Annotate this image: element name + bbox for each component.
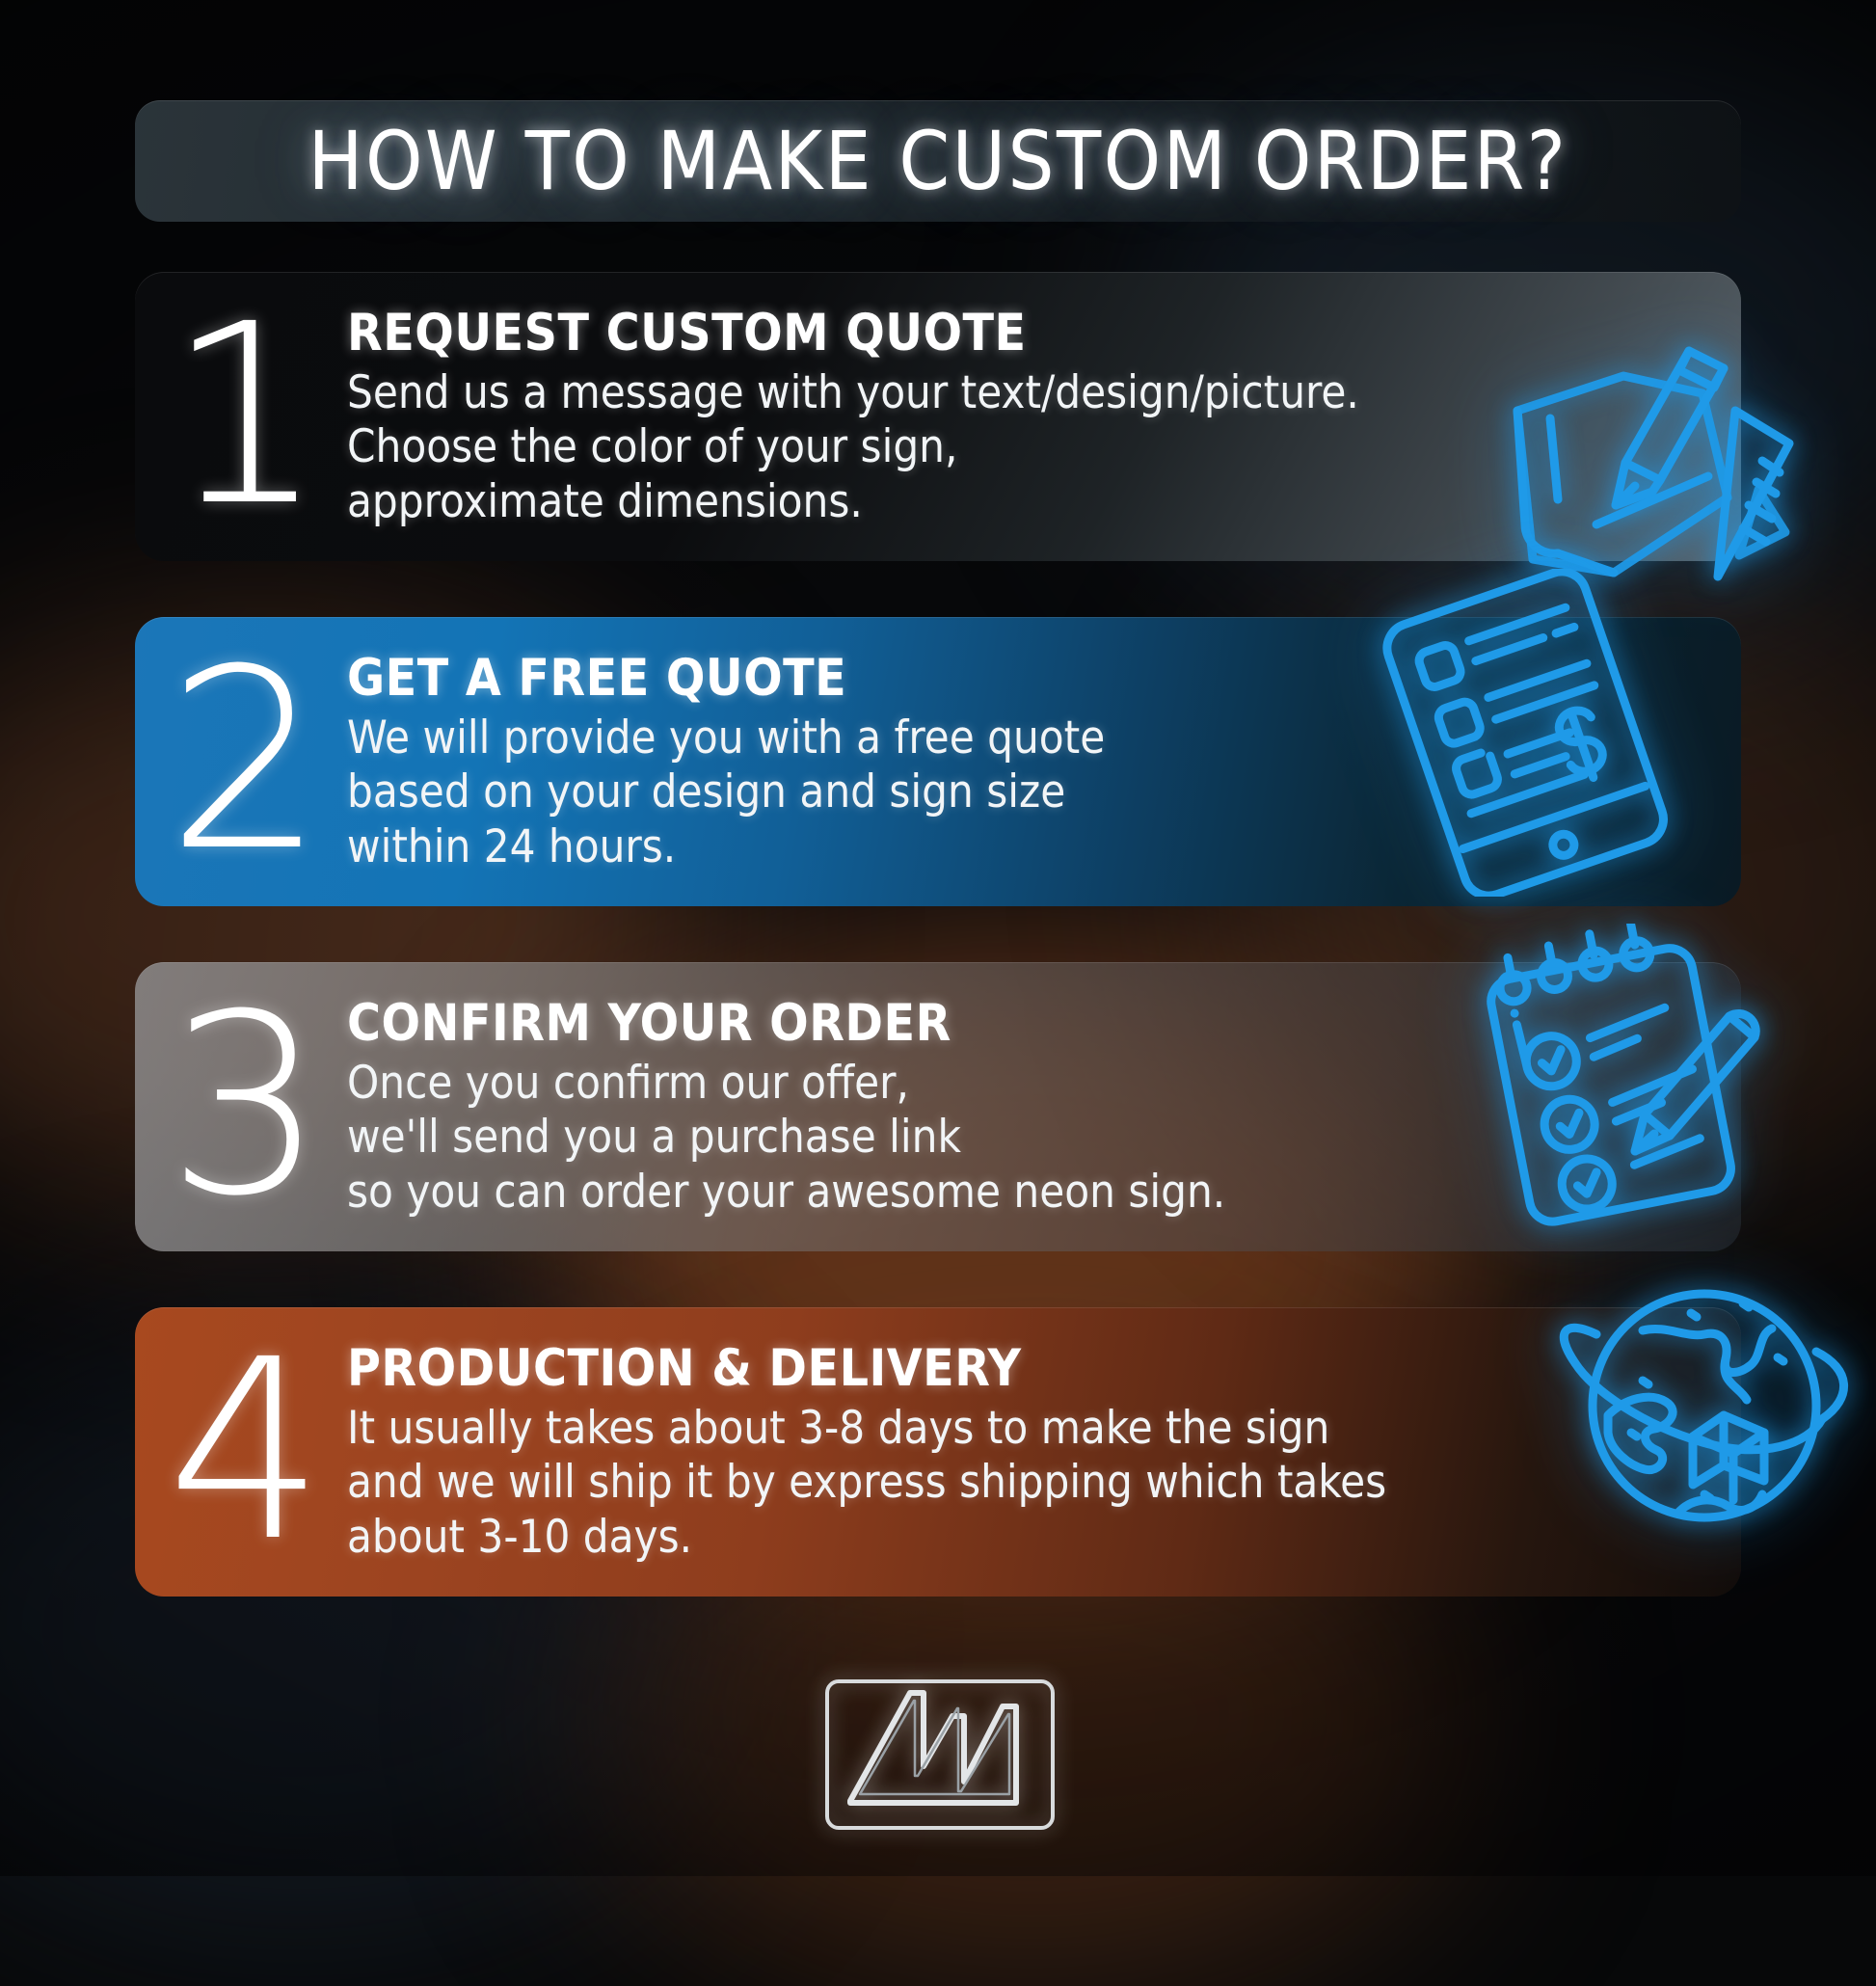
step-card-4[interactable]: 4 PRODUCTION & DELIVERY It usually takes… — [135, 1307, 1741, 1597]
step-title-2: GET A FREE QUOTE — [347, 649, 1702, 708]
page-title: HOW TO MAKE CUSTOM ORDER? — [308, 114, 1568, 208]
step-body-4-line-3: about 3-10 days. — [347, 1511, 1702, 1565]
step-number-1: 1 — [145, 309, 347, 523]
ln-neon-monogram-logo — [817, 1658, 1062, 1851]
step-body-1-line-2: Choose the color of your sign, — [347, 420, 1702, 474]
step-card-3[interactable]: 3 CONFIRM YOUR ORDER Once you confirm ou… — [135, 962, 1741, 1251]
step-number-4: 4 — [145, 1345, 347, 1559]
step-body-4-line-2: and we will ship it by express shipping … — [347, 1456, 1702, 1510]
step-body-3: Once you confirm our offer, we'll send y… — [347, 1057, 1702, 1220]
step-text-2: GET A FREE QUOTE We will provide you wit… — [347, 649, 1741, 874]
step-card-1[interactable]: 1 REQUEST CUSTOM QUOTE Send us a message… — [135, 272, 1741, 561]
step-body-2-line-1: We will provide you with a free quote — [347, 711, 1702, 765]
step-text-3: CONFIRM YOUR ORDER Once you confirm our … — [347, 994, 1741, 1220]
step-body-4: It usually takes about 3-8 days to make … — [347, 1402, 1702, 1565]
step-body-2-line-2: based on your design and sign size — [347, 765, 1702, 819]
step-text-4: PRODUCTION & DELIVERY It usually takes a… — [347, 1339, 1741, 1565]
step-number-2: 2 — [145, 655, 347, 869]
infographic-root: HOW TO MAKE CUSTOM ORDER? 1 REQUEST CUST… — [0, 0, 1876, 1876]
step-body-1-line-1: Send us a message with your text/design/… — [347, 366, 1702, 420]
step-title-3: CONFIRM YOUR ORDER — [347, 994, 1702, 1053]
step-body-3-line-3: so you can order your awesome neon sign. — [347, 1166, 1702, 1220]
step-body-2: We will provide you with a free quote ba… — [347, 711, 1702, 874]
step-body-3-line-1: Once you confirm our offer, — [347, 1057, 1702, 1111]
step-body-3-line-2: we'll send you a purchase link — [347, 1111, 1702, 1165]
step-body-4-line-1: It usually takes about 3-8 days to make … — [347, 1402, 1702, 1456]
step-card-2[interactable]: 2 GET A FREE QUOTE We will provide you w… — [135, 617, 1741, 906]
step-text-1: REQUEST CUSTOM QUOTE Send us a message w… — [347, 304, 1741, 529]
step-number-3: 3 — [145, 1000, 347, 1214]
step-body-1-line-3: approximate dimensions. — [347, 475, 1702, 529]
step-title-4: PRODUCTION & DELIVERY — [347, 1339, 1702, 1398]
step-body-1: Send us a message with your text/design/… — [347, 366, 1702, 529]
step-body-2-line-3: within 24 hours. — [347, 820, 1702, 874]
page-header-banner: HOW TO MAKE CUSTOM ORDER? — [135, 100, 1741, 222]
step-title-1: REQUEST CUSTOM QUOTE — [347, 304, 1702, 362]
